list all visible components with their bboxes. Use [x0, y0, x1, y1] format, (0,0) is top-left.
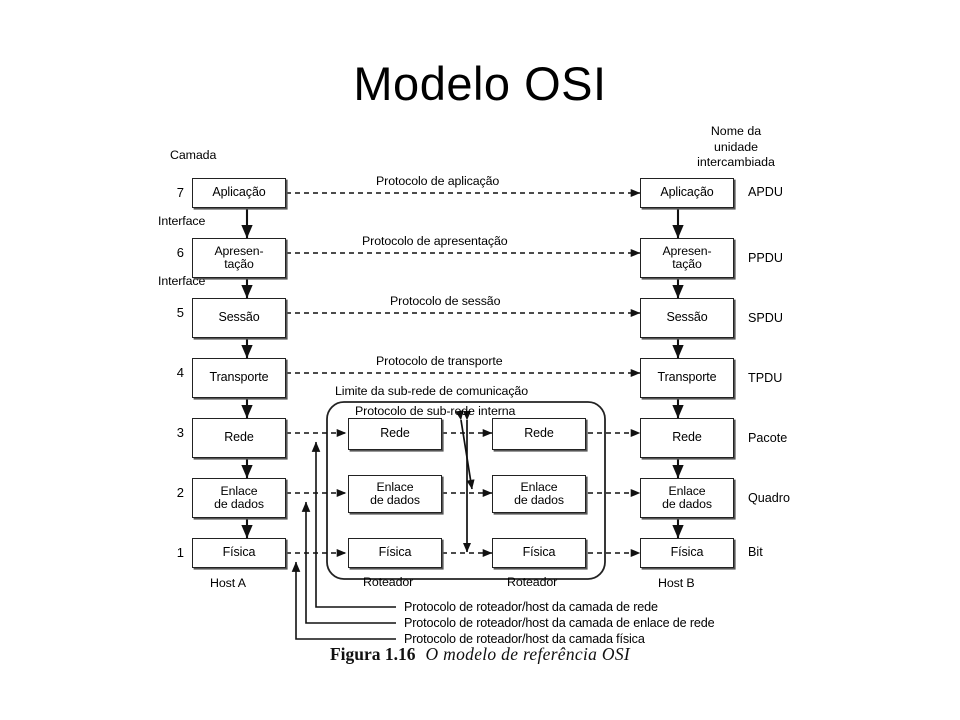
host-a-layer-4-label: Transporte [210, 371, 269, 384]
layer-number-1: 1 [168, 545, 184, 560]
router-1-label: Roteador [363, 575, 413, 589]
router-1-network-label: Rede [380, 427, 409, 440]
host-a-layer-5-label: Sessão [218, 311, 259, 324]
host-a-layer-6-line-1: Apresen- [214, 244, 263, 258]
host-a-layer-1-label: Física [223, 546, 256, 559]
osi-model-figure: Camada Nome da unidade intercambiada 7 6… [120, 120, 850, 680]
right-header-line-3: intercambiada [666, 155, 806, 171]
router-2-datalink-line-2: de dados [514, 493, 564, 507]
host-a-layer-5-box[interactable]: Sessão [192, 298, 286, 338]
figure-caption-text: O modelo de referência OSI [426, 644, 630, 664]
router-2-datalink-label: Enlace de dados [514, 481, 564, 507]
router-1-datalink-line-2: de dados [370, 493, 420, 507]
router-1-datalink-line-1: Enlace [377, 480, 414, 494]
page-title: Modelo OSI [0, 58, 960, 110]
right-header-line-2: unidade [666, 140, 806, 156]
left-column-header: Camada [170, 148, 216, 162]
slide-canvas: Modelo OSI [0, 0, 960, 720]
host-b-layer-1-box[interactable]: Física [640, 538, 734, 568]
host-b-layer-6-label: Apresen- tação [662, 245, 711, 271]
router-2-datalink-box[interactable]: Enlace de dados [492, 475, 586, 513]
layer-number-7: 7 [168, 185, 184, 200]
layer-number-2: 2 [168, 485, 184, 500]
interface-label-1: Interface [158, 214, 205, 228]
host-a-label: Host A [210, 576, 246, 590]
layer-number-5: 5 [168, 305, 184, 320]
host-a-layer-2-box[interactable]: Enlace de dados [192, 478, 286, 518]
protocol-label-presentation: Protocolo de apresentação [362, 234, 508, 248]
host-a-layer-1-box[interactable]: Física [192, 538, 286, 568]
layer-number-4: 4 [168, 365, 184, 380]
host-b-label: Host B [658, 576, 695, 590]
host-a-layer-2-line-1: Enlace [221, 484, 258, 498]
host-b-layer-1-label: Física [671, 546, 704, 559]
host-a-layer-7-box[interactable]: Aplicação [192, 178, 286, 208]
router-2-network-box[interactable]: Rede [492, 418, 586, 450]
layer-number-6: 6 [168, 245, 184, 260]
protocol-label-application: Protocolo de aplicação [376, 174, 499, 188]
router-1-network-box[interactable]: Rede [348, 418, 442, 450]
subnet-boundary-label: Limite da sub-rede de comunicação [335, 384, 528, 398]
host-a-layer-4-box[interactable]: Transporte [192, 358, 286, 398]
figure-caption: Figura 1.16O modelo de referência OSI [0, 644, 960, 665]
router-1-physical-box[interactable]: Física [348, 538, 442, 568]
host-b-layer-5-box[interactable]: Sessão [640, 298, 734, 338]
pdu-label-apdu: APDU [748, 185, 783, 199]
host-a-layer-2-line-2: de dados [214, 497, 264, 511]
protocol-label-session: Protocolo de sessão [390, 294, 500, 308]
router-2-network-label: Rede [524, 427, 553, 440]
pdu-label-tpdu: TPDU [748, 371, 782, 385]
annotation-network-layer: Protocolo de roteador/host da camada de … [404, 600, 658, 614]
layer-number-3: 3 [168, 425, 184, 440]
host-b-layer-7-box[interactable]: Aplicação [640, 178, 734, 208]
host-b-layer-4-label: Transporte [658, 371, 717, 384]
host-b-layer-6-line-1: Apresen- [662, 244, 711, 258]
router-1-datalink-box[interactable]: Enlace de dados [348, 475, 442, 513]
router-2-physical-label: Física [523, 546, 556, 559]
host-b-layer-3-label: Rede [672, 431, 701, 444]
host-b-layer-2-label: Enlace de dados [662, 485, 712, 511]
host-b-layer-2-box[interactable]: Enlace de dados [640, 478, 734, 518]
host-b-layer-2-line-1: Enlace [669, 484, 706, 498]
host-a-layer-6-label: Apresen- tação [214, 245, 263, 271]
router-1-physical-label: Física [379, 546, 412, 559]
host-b-layer-6-line-2: tação [672, 257, 702, 271]
router-2-datalink-line-1: Enlace [521, 480, 558, 494]
figure-number: Figura 1.16 [330, 644, 416, 664]
router-2-label: Roteador [507, 575, 557, 589]
host-b-layer-4-box[interactable]: Transporte [640, 358, 734, 398]
host-b-layer-7-label: Aplicação [660, 186, 713, 199]
router-2-physical-box[interactable]: Física [492, 538, 586, 568]
host-a-layer-6-box[interactable]: Apresen- tação [192, 238, 286, 278]
host-b-layer-6-box[interactable]: Apresen- tação [640, 238, 734, 278]
protocol-label-transport: Protocolo de transporte [376, 354, 503, 368]
annotation-datalink-layer: Protocolo de roteador/host da camada de … [404, 616, 714, 630]
pdu-label-pacote: Pacote [748, 431, 787, 445]
host-b-layer-5-label: Sessão [666, 311, 707, 324]
right-header-line-1: Nome da [666, 124, 806, 140]
host-b-layer-2-line-2: de dados [662, 497, 712, 511]
subnet-protocol-label: Protocolo de sub-rede interna [355, 404, 515, 418]
host-a-layer-7-label: Aplicação [212, 186, 265, 199]
host-b-layer-3-box[interactable]: Rede [640, 418, 734, 458]
host-a-layer-6-line-2: tação [224, 257, 254, 271]
right-column-header: Nome da unidade intercambiada [666, 124, 806, 171]
router-1-datalink-label: Enlace de dados [370, 481, 420, 507]
pdu-label-quadro: Quadro [748, 491, 790, 505]
host-a-layer-3-label: Rede [224, 431, 253, 444]
host-a-layer-3-box[interactable]: Rede [192, 418, 286, 458]
pdu-label-bit: Bit [748, 545, 763, 559]
pdu-label-ppdu: PPDU [748, 251, 783, 265]
pdu-label-spdu: SPDU [748, 311, 783, 325]
host-a-layer-2-label: Enlace de dados [214, 485, 264, 511]
